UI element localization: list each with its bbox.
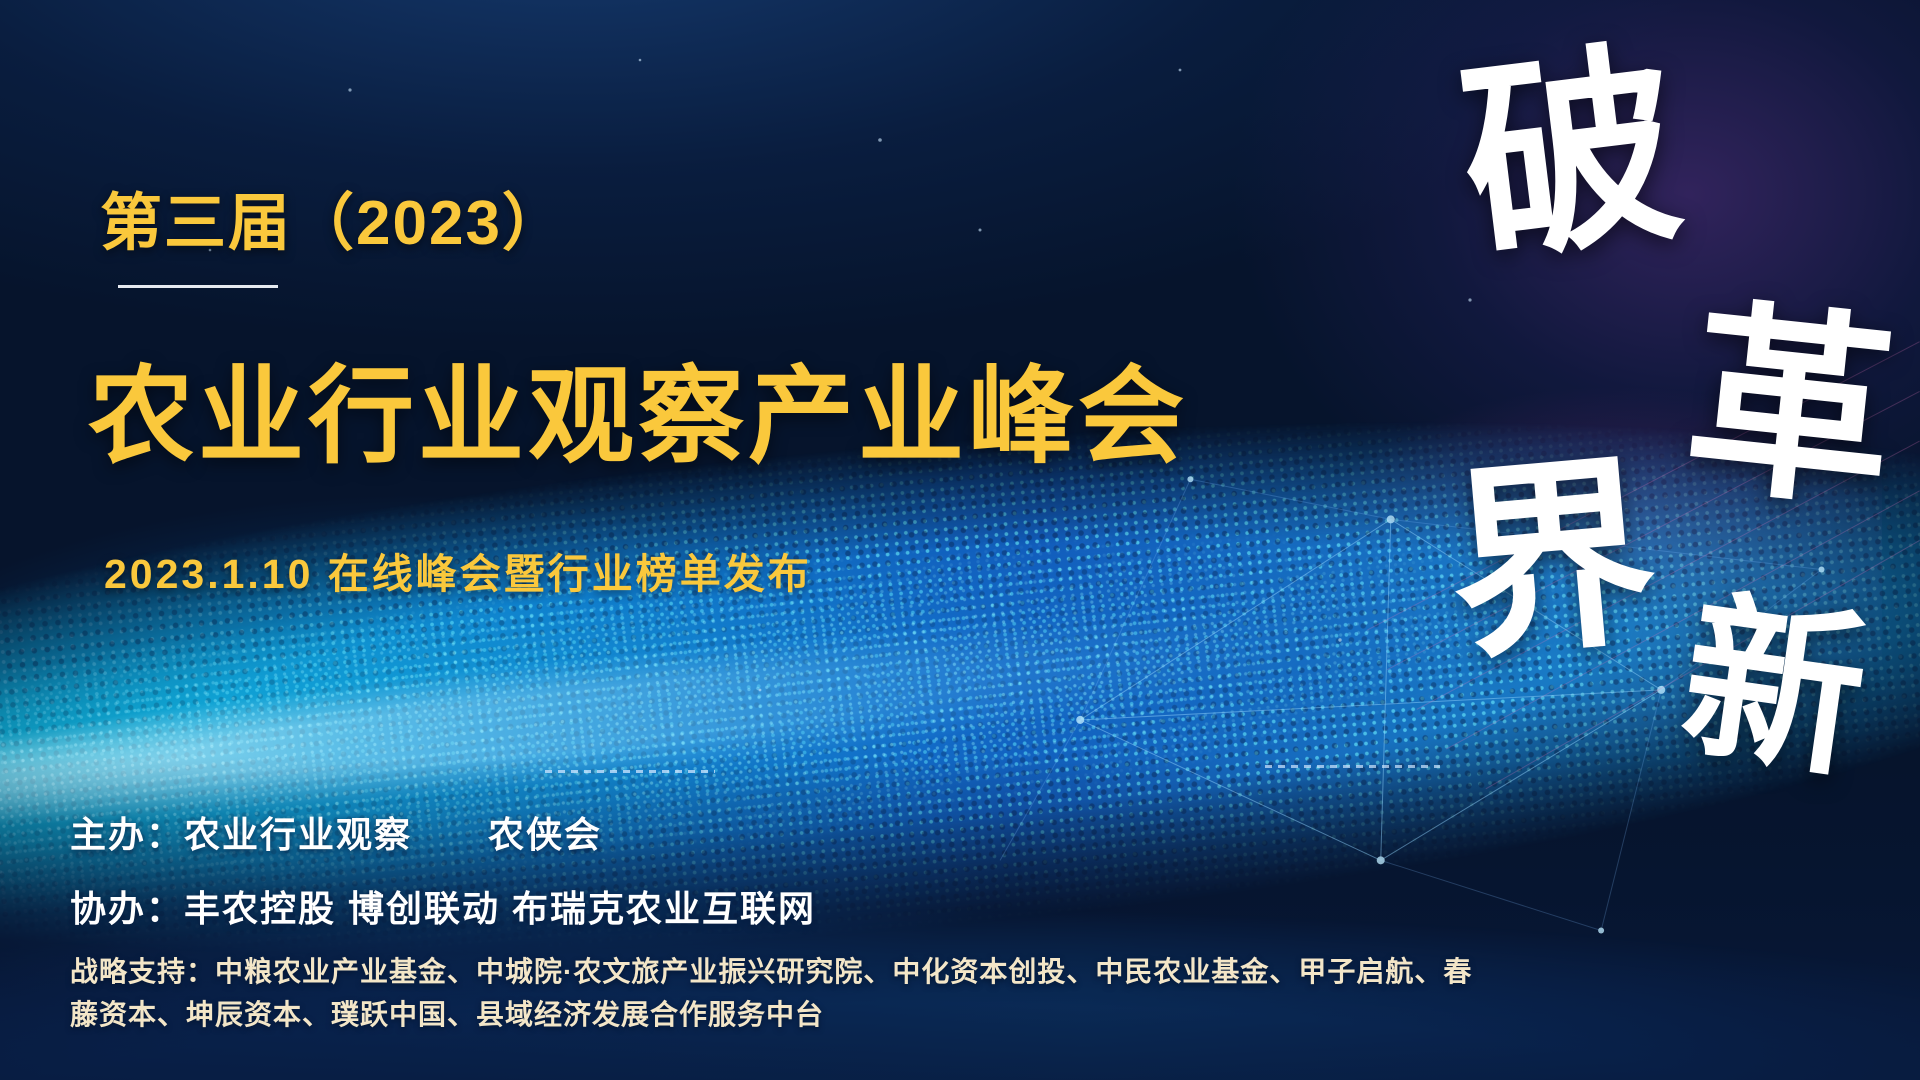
strategic-support-line: 战略支持：中粮农业产业基金、中城院·农文旅产业振兴研究院、中化资本创投、中民农业… [70,950,1500,1037]
edition-kicker: 第三届（2023） [100,172,566,262]
cohost-line: 协办：丰农控股 博创联动 布瑞克农业互联网 [70,880,816,932]
title-rule [118,285,278,288]
poster-content: 第三届（2023） 农业行业观察产业峰会 2023.1.10 在线峰会暨行业榜单… [0,0,1920,1080]
host-line: 主办：农业行业观察 农侠会 [70,806,602,858]
event-date-line: 2023.1.10 在线峰会暨行业榜单发布 [104,540,812,600]
poster-canvas: 破 革 界 新 第三届（2023） 农业行业观察产业峰会 2023.1.10 在… [0,0,1920,1080]
poster-title: 农业行业观察产业峰会 [88,330,1188,484]
